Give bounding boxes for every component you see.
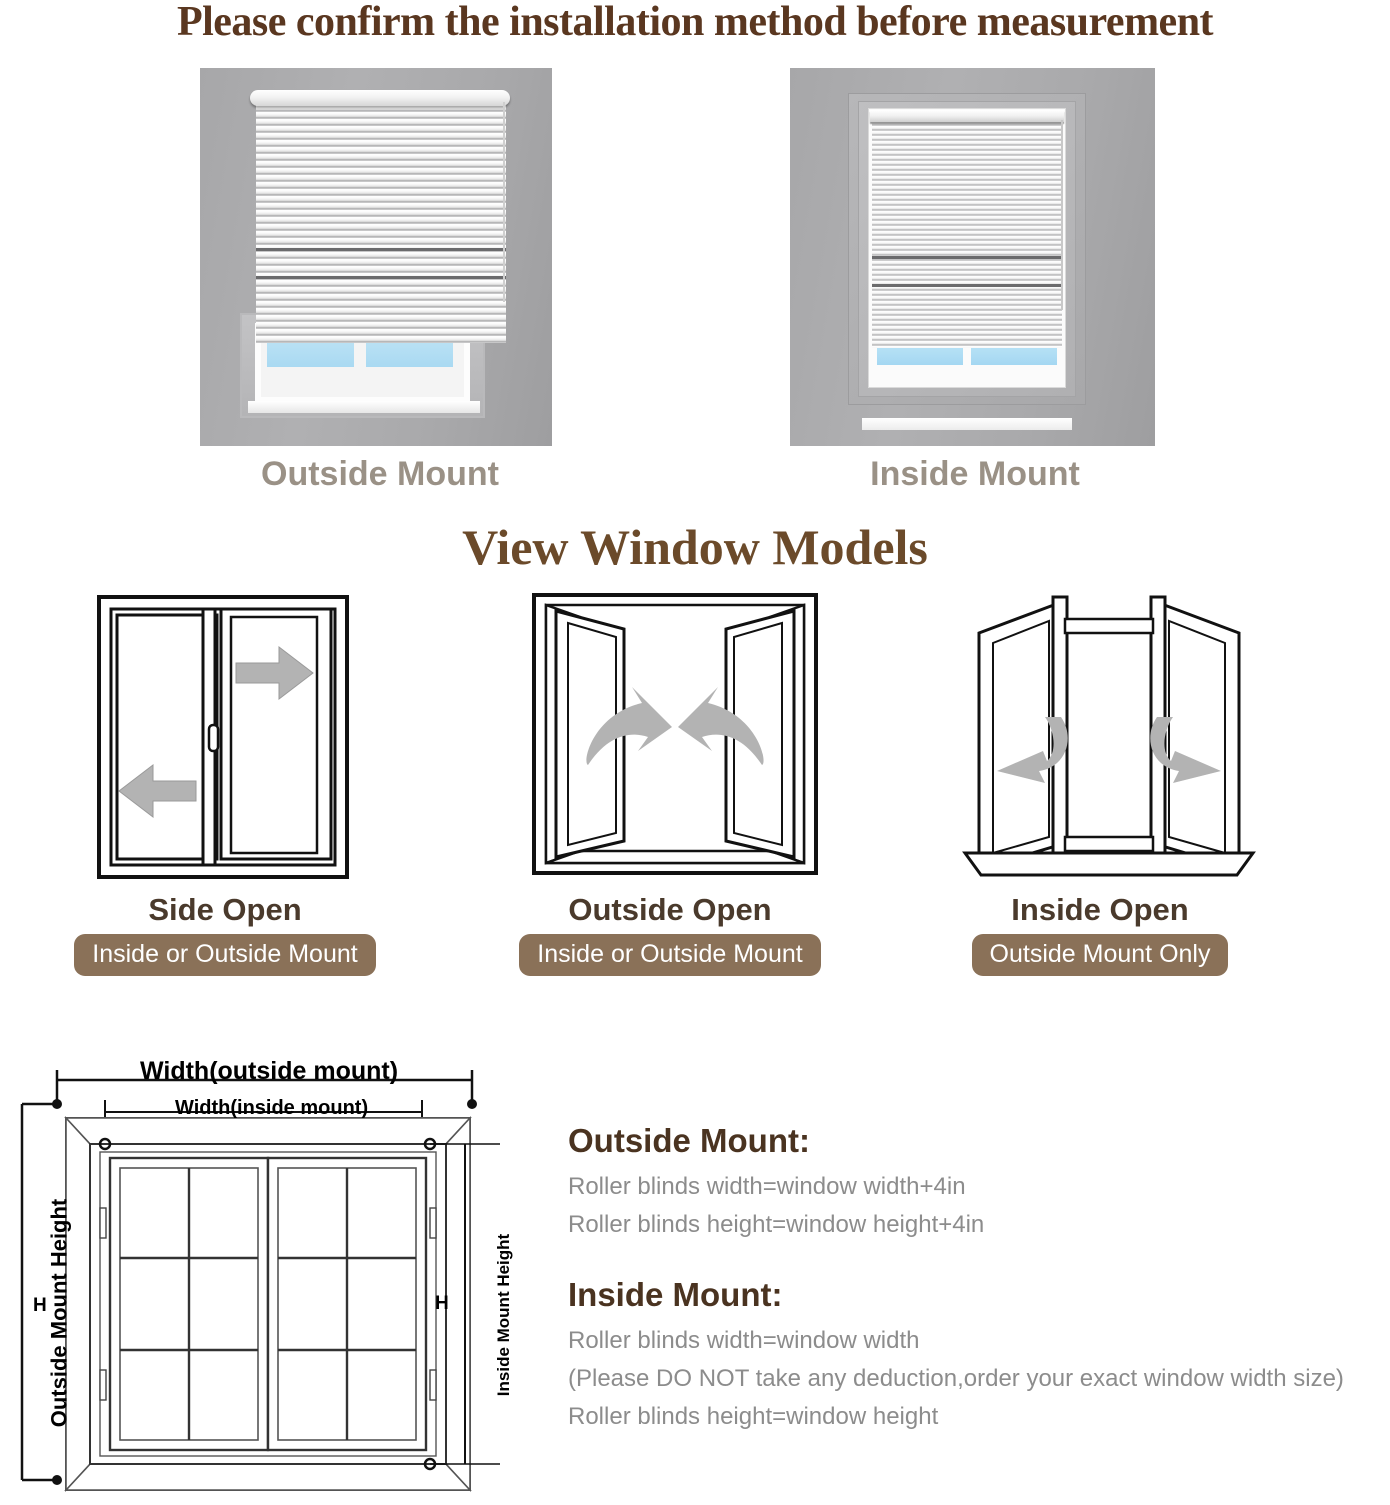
info-line: (Please DO NOT take any deduction,order … <box>568 1360 1344 1398</box>
blind-slats <box>872 116 1062 348</box>
inside-mount-photo <box>790 68 1155 446</box>
blind-slat-shadow <box>256 248 506 251</box>
height-marker-inside: H <box>435 1293 449 1315</box>
outside-mount-photo <box>200 68 552 446</box>
section-title: View Window Models <box>0 518 1390 576</box>
blind-cord <box>503 102 505 302</box>
info-line: Roller blinds height=window height+4in <box>568 1206 984 1244</box>
inward-casement-window-icon <box>910 585 1290 890</box>
info-line: Roller blinds width=window width+4in <box>568 1168 984 1206</box>
model-label: Outside Open <box>480 892 860 928</box>
window-model-outside-open: Outside Open Inside or Outside Mount <box>480 585 860 976</box>
window-model-side-open: Side Open Inside or Outside Mount <box>35 585 415 976</box>
blind-headrail <box>870 110 1064 122</box>
outside-mount-heading: Outside Mount: <box>568 1118 984 1164</box>
blind-slat-shadow <box>256 276 506 279</box>
inside-mount-height-label: Inside Mount Height <box>494 1234 514 1396</box>
model-label: Inside Open <box>910 892 1290 928</box>
blind-slats <box>256 98 506 343</box>
outside-mount-height-label: Outside Mount Height <box>46 1199 72 1428</box>
window-sill <box>248 401 480 413</box>
info-line: Roller blinds width=window width <box>568 1322 1344 1360</box>
blind-slat-shadow <box>872 284 1062 287</box>
model-label: Side Open <box>35 892 415 928</box>
outside-mount-caption: Outside Mount <box>150 455 610 494</box>
inside-mount-caption: Inside Mount <box>745 455 1205 494</box>
window-model-inside-open: Inside Open Outside Mount Only <box>910 585 1290 976</box>
outward-casement-window-icon <box>480 585 860 890</box>
width-outside-label: Width(outside mount) <box>140 1057 398 1086</box>
blind-cord <box>1061 120 1063 310</box>
blind-headrail <box>250 90 510 106</box>
inside-mount-info: Inside Mount: Roller blinds width=window… <box>568 1272 1344 1436</box>
width-inside-label: Width(inside mount) <box>175 1097 368 1120</box>
height-marker-outside: H <box>33 1295 47 1317</box>
sliding-window-icon <box>35 585 415 890</box>
window-sill <box>862 418 1072 430</box>
roller-blind <box>872 116 1062 348</box>
roller-blind <box>256 98 506 343</box>
model-badge[interactable]: Inside or Outside Mount <box>74 934 375 976</box>
inside-mount-heading: Inside Mount: <box>568 1272 1344 1318</box>
model-badge[interactable]: Outside Mount Only <box>972 934 1229 976</box>
info-line: Roller blinds height=window height <box>568 1398 1344 1436</box>
page-title: Please confirm the installation method b… <box>0 0 1390 46</box>
outside-mount-info: Outside Mount: Roller blinds width=windo… <box>568 1118 984 1244</box>
blind-slat-shadow <box>872 256 1062 259</box>
model-badge[interactable]: Inside or Outside Mount <box>519 934 820 976</box>
